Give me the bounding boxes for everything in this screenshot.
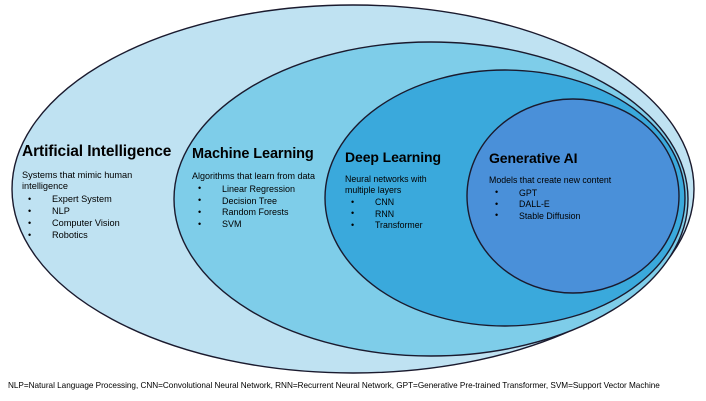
list-item: Linear Regression (192, 184, 342, 196)
layer-deep-learning: Deep Learning Neural networks with multi… (345, 149, 475, 232)
subtitle-generative-ai: Models that create new content (489, 175, 629, 186)
bullet-list-machine-learning: Linear Regression Decision Tree Random F… (192, 184, 342, 231)
list-item: CNN (345, 197, 475, 208)
bullet-list-artificial-intelligence: Expert System NLP Computer Vision Roboti… (22, 194, 182, 242)
list-item: RNN (345, 209, 475, 220)
list-item: Robotics (22, 230, 182, 242)
list-item: DALL-E (489, 199, 629, 210)
subtitle-machine-learning: Algorithms that learn from data (192, 171, 338, 182)
list-item: Expert System (22, 194, 182, 206)
list-item: GPT (489, 188, 629, 199)
layer-generative-ai: Generative AI Models that create new con… (489, 150, 629, 222)
list-item: SVM (192, 219, 342, 231)
heading-generative-ai: Generative AI (489, 150, 629, 166)
list-item: Transformer (345, 220, 475, 231)
list-item: Random Forests (192, 207, 342, 219)
bullet-list-generative-ai: GPT DALL-E Stable Diffusion (489, 188, 629, 222)
subtitle-artificial-intelligence: Systems that mimic human intelligence (22, 170, 150, 192)
layer-machine-learning: Machine Learning Algorithms that learn f… (192, 146, 342, 231)
heading-deep-learning: Deep Learning (345, 149, 475, 165)
subtitle-deep-learning: Neural networks with multiple layers (345, 174, 441, 195)
diagram-canvas: Artificial Intelligence Systems that mim… (0, 0, 706, 401)
list-item: Stable Diffusion (489, 211, 629, 222)
bullet-list-deep-learning: CNN RNN Transformer (345, 197, 475, 231)
list-item: Computer Vision (22, 218, 182, 230)
abbreviation-footnote: NLP=Natural Language Processing, CNN=Con… (8, 381, 660, 390)
list-item: Decision Tree (192, 196, 342, 208)
heading-artificial-intelligence: Artificial Intelligence (22, 143, 182, 161)
layer-artificial-intelligence: Artificial Intelligence Systems that mim… (22, 143, 182, 242)
heading-machine-learning: Machine Learning (192, 146, 342, 162)
list-item: NLP (22, 206, 182, 218)
